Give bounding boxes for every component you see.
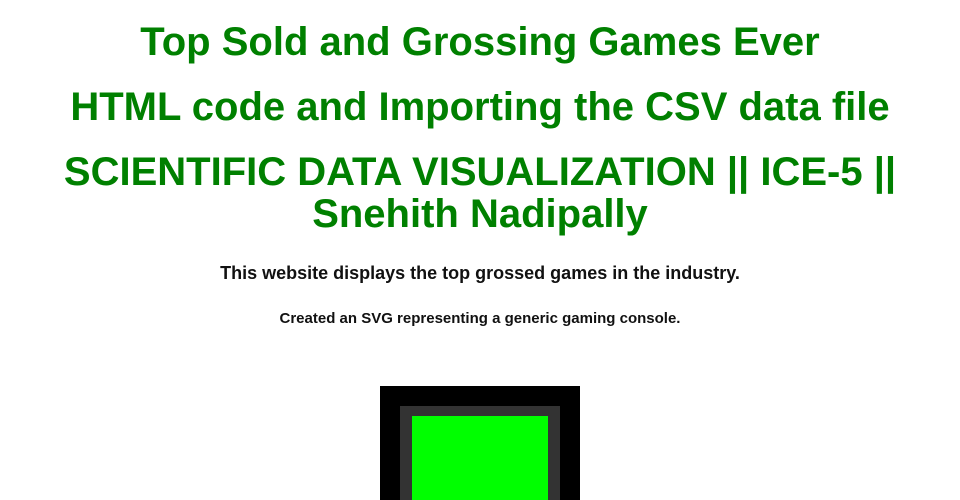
description-secondary: Created an SVG representing a generic ga… — [0, 310, 960, 327]
console-screen-rect — [412, 416, 548, 500]
gaming-console-svg — [380, 386, 580, 500]
page-title-secondary: HTML code and Importing the CSV data fil… — [0, 86, 960, 128]
page-title-primary: Top Sold and Grossing Games Ever — [0, 21, 960, 63]
page-title-course: SCIENTIFIC DATA VISUALIZATION || ICE-5 |… — [0, 151, 960, 235]
page-root: Top Sold and Grossing Games Ever HTML co… — [0, 0, 960, 500]
console-graphic-container — [0, 386, 960, 500]
description-primary: This website displays the top grossed ga… — [0, 263, 960, 283]
